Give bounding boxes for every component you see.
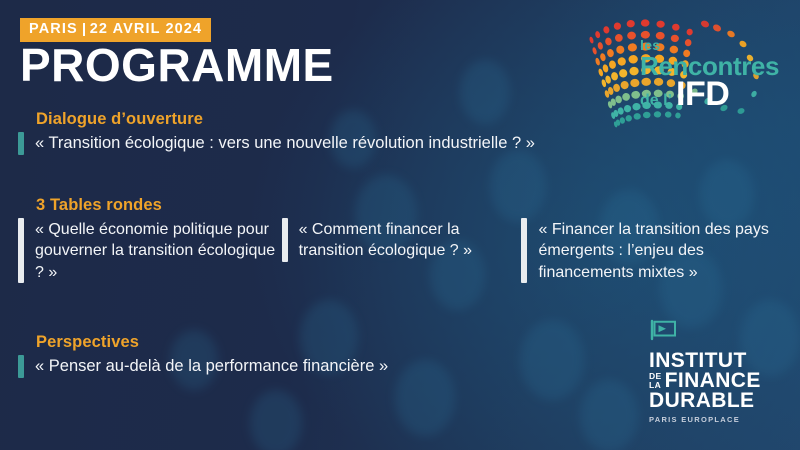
entry-dialogue: « Transition écologique : vers une nouve… bbox=[18, 132, 535, 155]
section-tables-rondes: 3 Tables rondes « Quelle économie politi… bbox=[18, 196, 790, 283]
entry-text-perspectives: « Penser au-delà de la performance finan… bbox=[35, 355, 388, 378]
accent-bar-white bbox=[18, 218, 24, 283]
entry-perspectives: « Penser au-delà de la performance finan… bbox=[18, 355, 388, 378]
logo-rencontres-text: les Rencontres de l’ IFD bbox=[640, 38, 779, 109]
logo-word-finance: FINANCE bbox=[665, 371, 761, 391]
logo-line-les: les bbox=[640, 38, 779, 52]
logo-line-finance: DE LA FINANCE bbox=[649, 371, 784, 391]
accent-bar-teal bbox=[18, 355, 24, 378]
logo-subtitle-paris-europlace: PARIS EUROPLACE bbox=[649, 415, 784, 424]
section-heading-tables-rondes: 3 Tables rondes bbox=[36, 196, 790, 215]
logo-line-dela: DE LA bbox=[649, 372, 662, 389]
tables-rondes-columns: « Quelle économie politique pour gouvern… bbox=[18, 218, 790, 283]
date-badge: PARIS 22 AVRIL 2024 bbox=[20, 18, 211, 42]
logo-line-ifd: IFD bbox=[676, 80, 729, 109]
badge-city: PARIS bbox=[29, 22, 78, 37]
accent-bar-white bbox=[521, 218, 527, 283]
table-ronde-text-1: « Quelle économie politique pour gouvern… bbox=[35, 218, 282, 283]
logo-rencontres-ifd: les Rencontres de l’ IFD bbox=[584, 8, 792, 136]
slide-programme: PARIS 22 AVRIL 2024 PROGRAMME Dialogue d… bbox=[0, 0, 800, 450]
logo-line-institut: INSTITUT bbox=[649, 351, 784, 371]
logo-line-durable: DURABLE bbox=[649, 391, 784, 411]
section-dialogue-ouverture: Dialogue d’ouverture « Transition écolog… bbox=[18, 110, 535, 155]
section-heading-perspectives: Perspectives bbox=[36, 333, 388, 352]
logo-line-row: de l’ IFD bbox=[640, 80, 779, 109]
accent-bar-white bbox=[282, 218, 288, 262]
logo-line-de: de l’ bbox=[640, 93, 672, 109]
logo-institut-finance-durable: INSTITUT DE LA FINANCE DURABLE PARIS EUR… bbox=[649, 319, 784, 424]
page-title: PROGRAMME bbox=[20, 40, 334, 91]
flag-pennant-icon bbox=[649, 319, 784, 346]
section-perspectives: Perspectives « Penser au-delà de la perf… bbox=[18, 333, 388, 378]
entry-text-dialogue: « Transition écologique : vers une nouve… bbox=[35, 132, 535, 155]
table-ronde-text-2: « Comment financer la transition écologi… bbox=[299, 218, 522, 262]
badge-separator-icon bbox=[83, 23, 85, 36]
section-heading-dialogue: Dialogue d’ouverture bbox=[36, 110, 535, 129]
badge-date: 22 AVRIL 2024 bbox=[90, 22, 202, 37]
table-ronde-text-3: « Financer la transition des pays émerge… bbox=[538, 218, 790, 283]
logo-institut-name: INSTITUT DE LA FINANCE DURABLE bbox=[649, 351, 784, 411]
accent-bar-teal bbox=[18, 132, 24, 155]
table-ronde-item-1: « Quelle économie politique pour gouvern… bbox=[18, 218, 282, 283]
table-ronde-item-2: « Comment financer la transition écologi… bbox=[282, 218, 522, 262]
table-ronde-item-3: « Financer la transition des pays émerge… bbox=[521, 218, 790, 283]
